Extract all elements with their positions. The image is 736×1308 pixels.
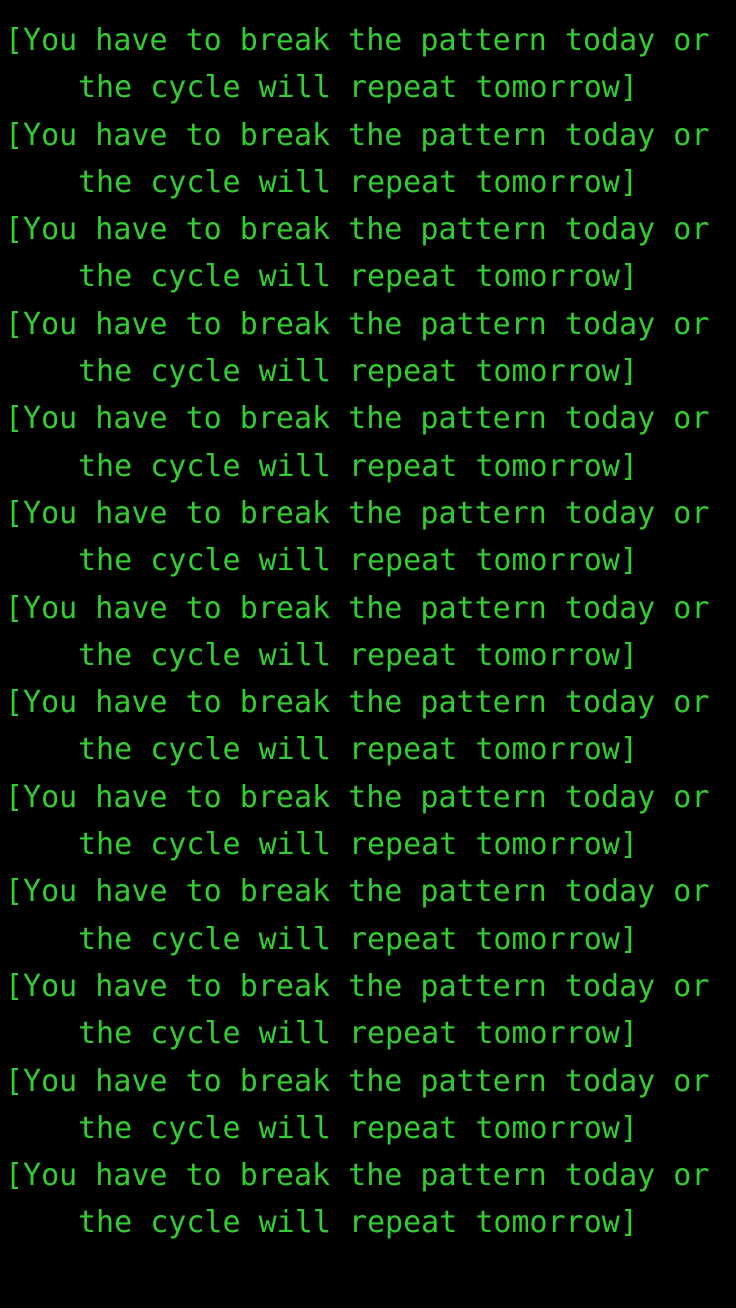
- message-block: [You have to break the pattern today ort…: [0, 112, 736, 207]
- message-block: [You have to break the pattern today ort…: [0, 395, 736, 490]
- message-line-primary: [You have to break the pattern today or: [0, 963, 736, 1010]
- message-block: [You have to break the pattern today ort…: [0, 774, 736, 869]
- message-line-primary: [You have to break the pattern today or: [0, 490, 736, 537]
- message-line-continuation: the cycle will repeat tomorrow]: [0, 916, 736, 963]
- message-line-continuation: the cycle will repeat tomorrow]: [0, 1199, 736, 1246]
- message-block: [You have to break the pattern today ort…: [0, 301, 736, 396]
- message-line-primary: [You have to break the pattern today or: [0, 112, 736, 159]
- message-block: [You have to break the pattern today ort…: [0, 963, 736, 1058]
- message-block: [You have to break the pattern today ort…: [0, 1152, 736, 1247]
- message-line-continuation: the cycle will repeat tomorrow]: [0, 1105, 736, 1152]
- message-line-continuation: the cycle will repeat tomorrow]: [0, 1010, 736, 1057]
- message-block: [You have to break the pattern today ort…: [0, 17, 736, 112]
- message-line-continuation: the cycle will repeat tomorrow]: [0, 821, 736, 868]
- message-stream: [You have to break the pattern today ort…: [0, 17, 736, 1247]
- message-line-primary: [You have to break the pattern today or: [0, 774, 736, 821]
- message-line-continuation: the cycle will repeat tomorrow]: [0, 348, 736, 395]
- message-line-continuation: the cycle will repeat tomorrow]: [0, 443, 736, 490]
- message-line-primary: [You have to break the pattern today or: [0, 679, 736, 726]
- message-line-primary: [You have to break the pattern today or: [0, 1058, 736, 1105]
- message-block: [You have to break the pattern today ort…: [0, 679, 736, 774]
- message-line-continuation: the cycle will repeat tomorrow]: [0, 159, 736, 206]
- message-block: [You have to break the pattern today ort…: [0, 1058, 736, 1153]
- message-line-primary: [You have to break the pattern today or: [0, 868, 736, 915]
- message-block: [You have to break the pattern today ort…: [0, 490, 736, 585]
- message-block: [You have to break the pattern today ort…: [0, 868, 736, 963]
- message-line-primary: [You have to break the pattern today or: [0, 206, 736, 253]
- message-line-primary: [You have to break the pattern today or: [0, 17, 736, 64]
- message-line-continuation: the cycle will repeat tomorrow]: [0, 253, 736, 300]
- message-line-primary: [You have to break the pattern today or: [0, 301, 736, 348]
- message-line-continuation: the cycle will repeat tomorrow]: [0, 537, 736, 584]
- message-block: [You have to break the pattern today ort…: [0, 206, 736, 301]
- message-line-primary: [You have to break the pattern today or: [0, 585, 736, 632]
- message-line-primary: [You have to break the pattern today or: [0, 395, 736, 442]
- message-line-continuation: the cycle will repeat tomorrow]: [0, 632, 736, 679]
- terminal-screen: [You have to break the pattern today ort…: [0, 0, 736, 1308]
- message-line-primary: [You have to break the pattern today or: [0, 1152, 736, 1199]
- message-block: [You have to break the pattern today ort…: [0, 585, 736, 680]
- message-line-continuation: the cycle will repeat tomorrow]: [0, 726, 736, 773]
- message-line-continuation: the cycle will repeat tomorrow]: [0, 64, 736, 111]
